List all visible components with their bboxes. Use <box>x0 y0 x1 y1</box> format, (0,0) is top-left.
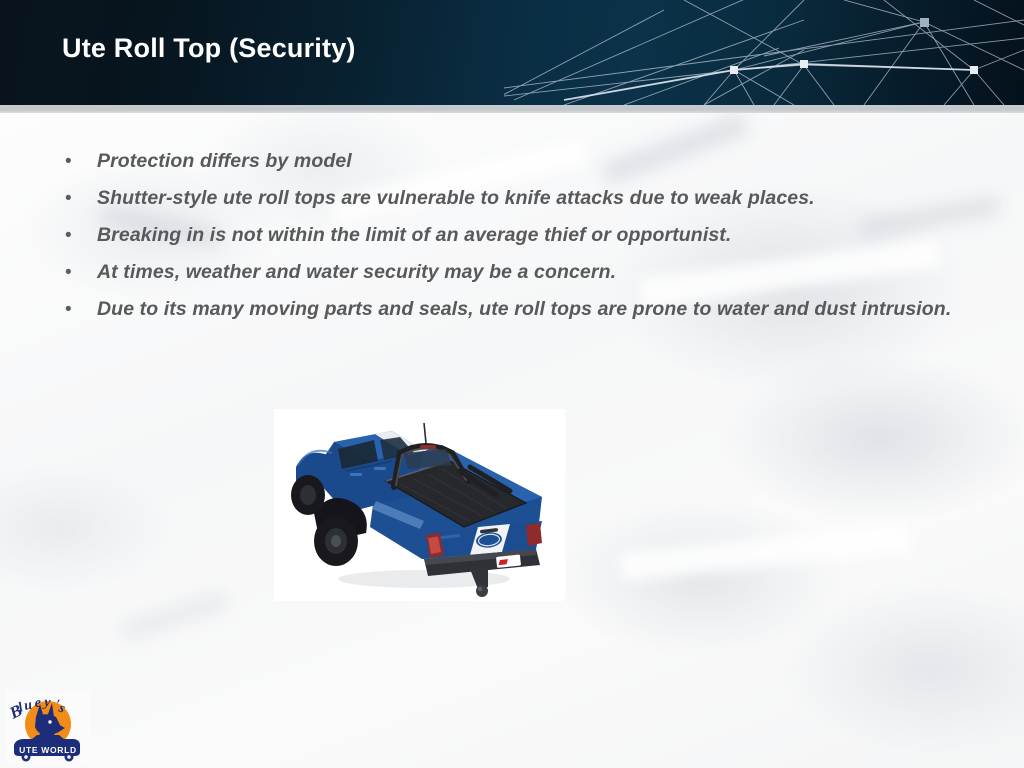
blueys-ute-world-logo-icon: B l u e y ' s UTE WORLD <box>6 690 90 764</box>
product-image-card <box>274 409 565 601</box>
bullet-marker-icon: • <box>60 183 97 214</box>
company-logo: B l u e y ' s UTE WORLD <box>6 690 90 764</box>
background-highlight <box>619 523 910 581</box>
network-graphic-icon <box>504 0 1024 105</box>
list-item: • Breaking in is not within the limit of… <box>60 220 990 251</box>
bullet-marker-icon: • <box>60 294 97 325</box>
ute-roll-top-photo <box>274 409 565 601</box>
list-item: • Due to its many moving parts and seals… <box>60 294 990 325</box>
bullet-marker-icon: • <box>60 257 97 288</box>
slide: Ute Roll Top (Security) • Protection dif… <box>0 0 1024 768</box>
bullet-text: At times, weather and water security may… <box>97 257 990 288</box>
list-item: • Protection differs by model <box>60 146 990 177</box>
header-divider <box>0 105 1024 113</box>
bullet-text: Due to its many moving parts and seals, … <box>97 294 990 325</box>
slide-header: Ute Roll Top (Security) <box>0 0 1024 105</box>
bullet-marker-icon: • <box>60 220 97 251</box>
svg-text:e: e <box>34 696 41 711</box>
list-item: • At times, weather and water security m… <box>60 257 990 288</box>
bullet-text: Breaking in is not within the limit of a… <box>97 220 990 251</box>
page-title: Ute Roll Top (Security) <box>62 33 356 64</box>
bullet-text: Protection differs by model <box>97 146 990 177</box>
bullet-list: • Protection differs by model • Shutter-… <box>60 146 990 331</box>
background-shadow <box>120 591 230 640</box>
list-item: • Shutter-style ute roll tops are vulner… <box>60 183 990 214</box>
logo-tagline: UTE WORLD <box>19 745 77 755</box>
bullet-text: Shutter-style ute roll tops are vulnerab… <box>97 183 990 214</box>
bullet-marker-icon: • <box>60 146 97 177</box>
